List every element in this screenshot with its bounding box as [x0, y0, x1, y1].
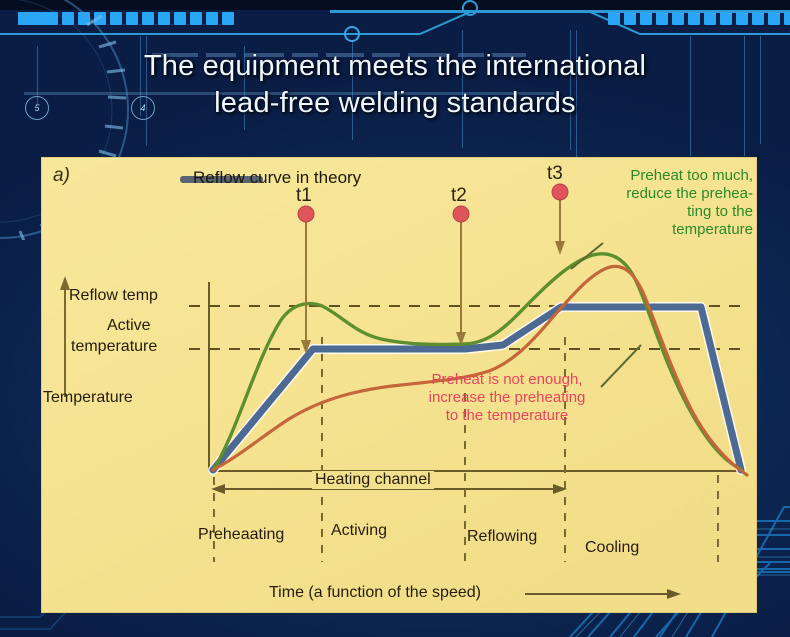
leader-line-green: [571, 243, 603, 269]
annotation-red-line-2: increase the preheating: [387, 389, 627, 407]
heating-channel-label: Heating channel: [312, 471, 434, 489]
slide-canvas: 5 4 The equipment meets the internation: [0, 0, 790, 637]
x-axis-title: Time (a function of the speed): [269, 584, 481, 602]
time-marker-t1: t1: [296, 185, 312, 207]
y-label-active-temp-line1: Active: [107, 317, 151, 335]
phase-label-activing: Activing: [331, 522, 387, 540]
annotation-red-line-1: Preheat is not enough,: [387, 371, 627, 389]
annotation-green-line-1: Preheat too much,: [579, 167, 753, 185]
curve-preheat-too-much: [213, 254, 741, 470]
phase-label-preheaating: Preheaating: [198, 526, 284, 544]
annotation-green-line-2: reduce the prehea-: [579, 185, 753, 203]
y-label-reflow-temp: Reflow temp: [69, 287, 158, 305]
annotation-green-line-3: ting to the: [579, 203, 753, 221]
phase-label-cooling: Cooling: [585, 539, 639, 557]
annotation-preheat-too-much: Preheat too much, reduce the prehea- tin…: [579, 167, 753, 239]
page-title: The equipment meets the international le…: [0, 48, 790, 122]
annotation-red-line-3: to the temperature: [387, 407, 627, 425]
marker-arrow-t1: [298, 206, 314, 354]
annotation-preheat-not-enough: Preheat is not enough, increase the preh…: [387, 371, 627, 425]
page-title-line-1: The equipment meets the international: [0, 48, 790, 85]
phase-label-reflowing: Reflowing: [467, 528, 537, 546]
annotation-green-line-4: temperature: [579, 221, 753, 239]
header-dashes-right: [608, 12, 790, 25]
y-axis-title: Temperature: [43, 389, 133, 407]
y-label-active-temp-line2: temperature: [71, 338, 157, 356]
time-axis-arrow: [525, 589, 681, 599]
marker-arrow-t2: [453, 206, 469, 346]
time-marker-t2: t2: [451, 185, 467, 207]
page-title-line-2: lead-free welding standards: [0, 85, 790, 122]
reflow-profile-chart: a) Reflow curve in theory: [41, 157, 757, 613]
time-marker-t3: t3: [547, 163, 563, 185]
marker-arrow-t3: [552, 184, 568, 255]
